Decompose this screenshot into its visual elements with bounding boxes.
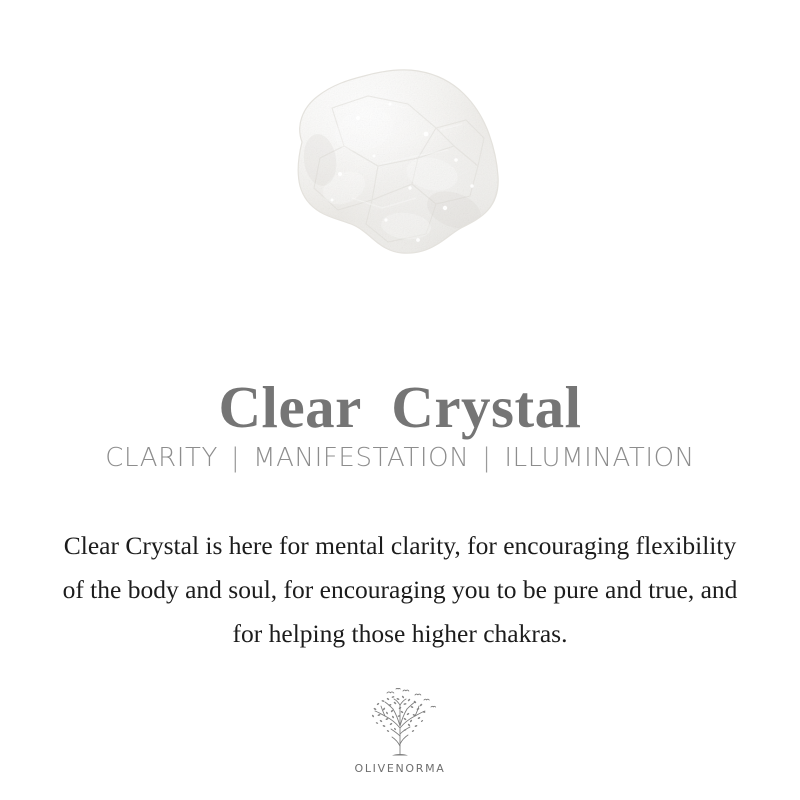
crystal-image — [240, 38, 540, 293]
product-description: Clear Crystal is here for mental clarity… — [50, 524, 750, 656]
clear-crystal-illustration — [240, 38, 540, 293]
keyword-list: CLARITY | MANIFESTATION | ILLUMINATION — [0, 442, 800, 474]
product-card: Clear Crystal CLARITY | MANIFESTATION | … — [0, 0, 800, 800]
crystal-body — [240, 38, 540, 293]
brand-logo: OLIVENORMA — [0, 688, 800, 775]
olive-tree-icon — [357, 688, 443, 760]
keyword-illumination: ILLUMINATION — [504, 443, 694, 473]
page-title: Clear Crystal — [0, 374, 800, 440]
keyword-separator-1: | — [227, 443, 244, 473]
keyword-separator-2: | — [478, 443, 495, 473]
keyword-manifestation: MANIFESTATION — [253, 443, 469, 473]
brand-name: OLIVENORMA — [0, 762, 800, 775]
keyword-clarity: CLARITY — [105, 443, 218, 473]
product-image-area — [0, 0, 800, 320]
